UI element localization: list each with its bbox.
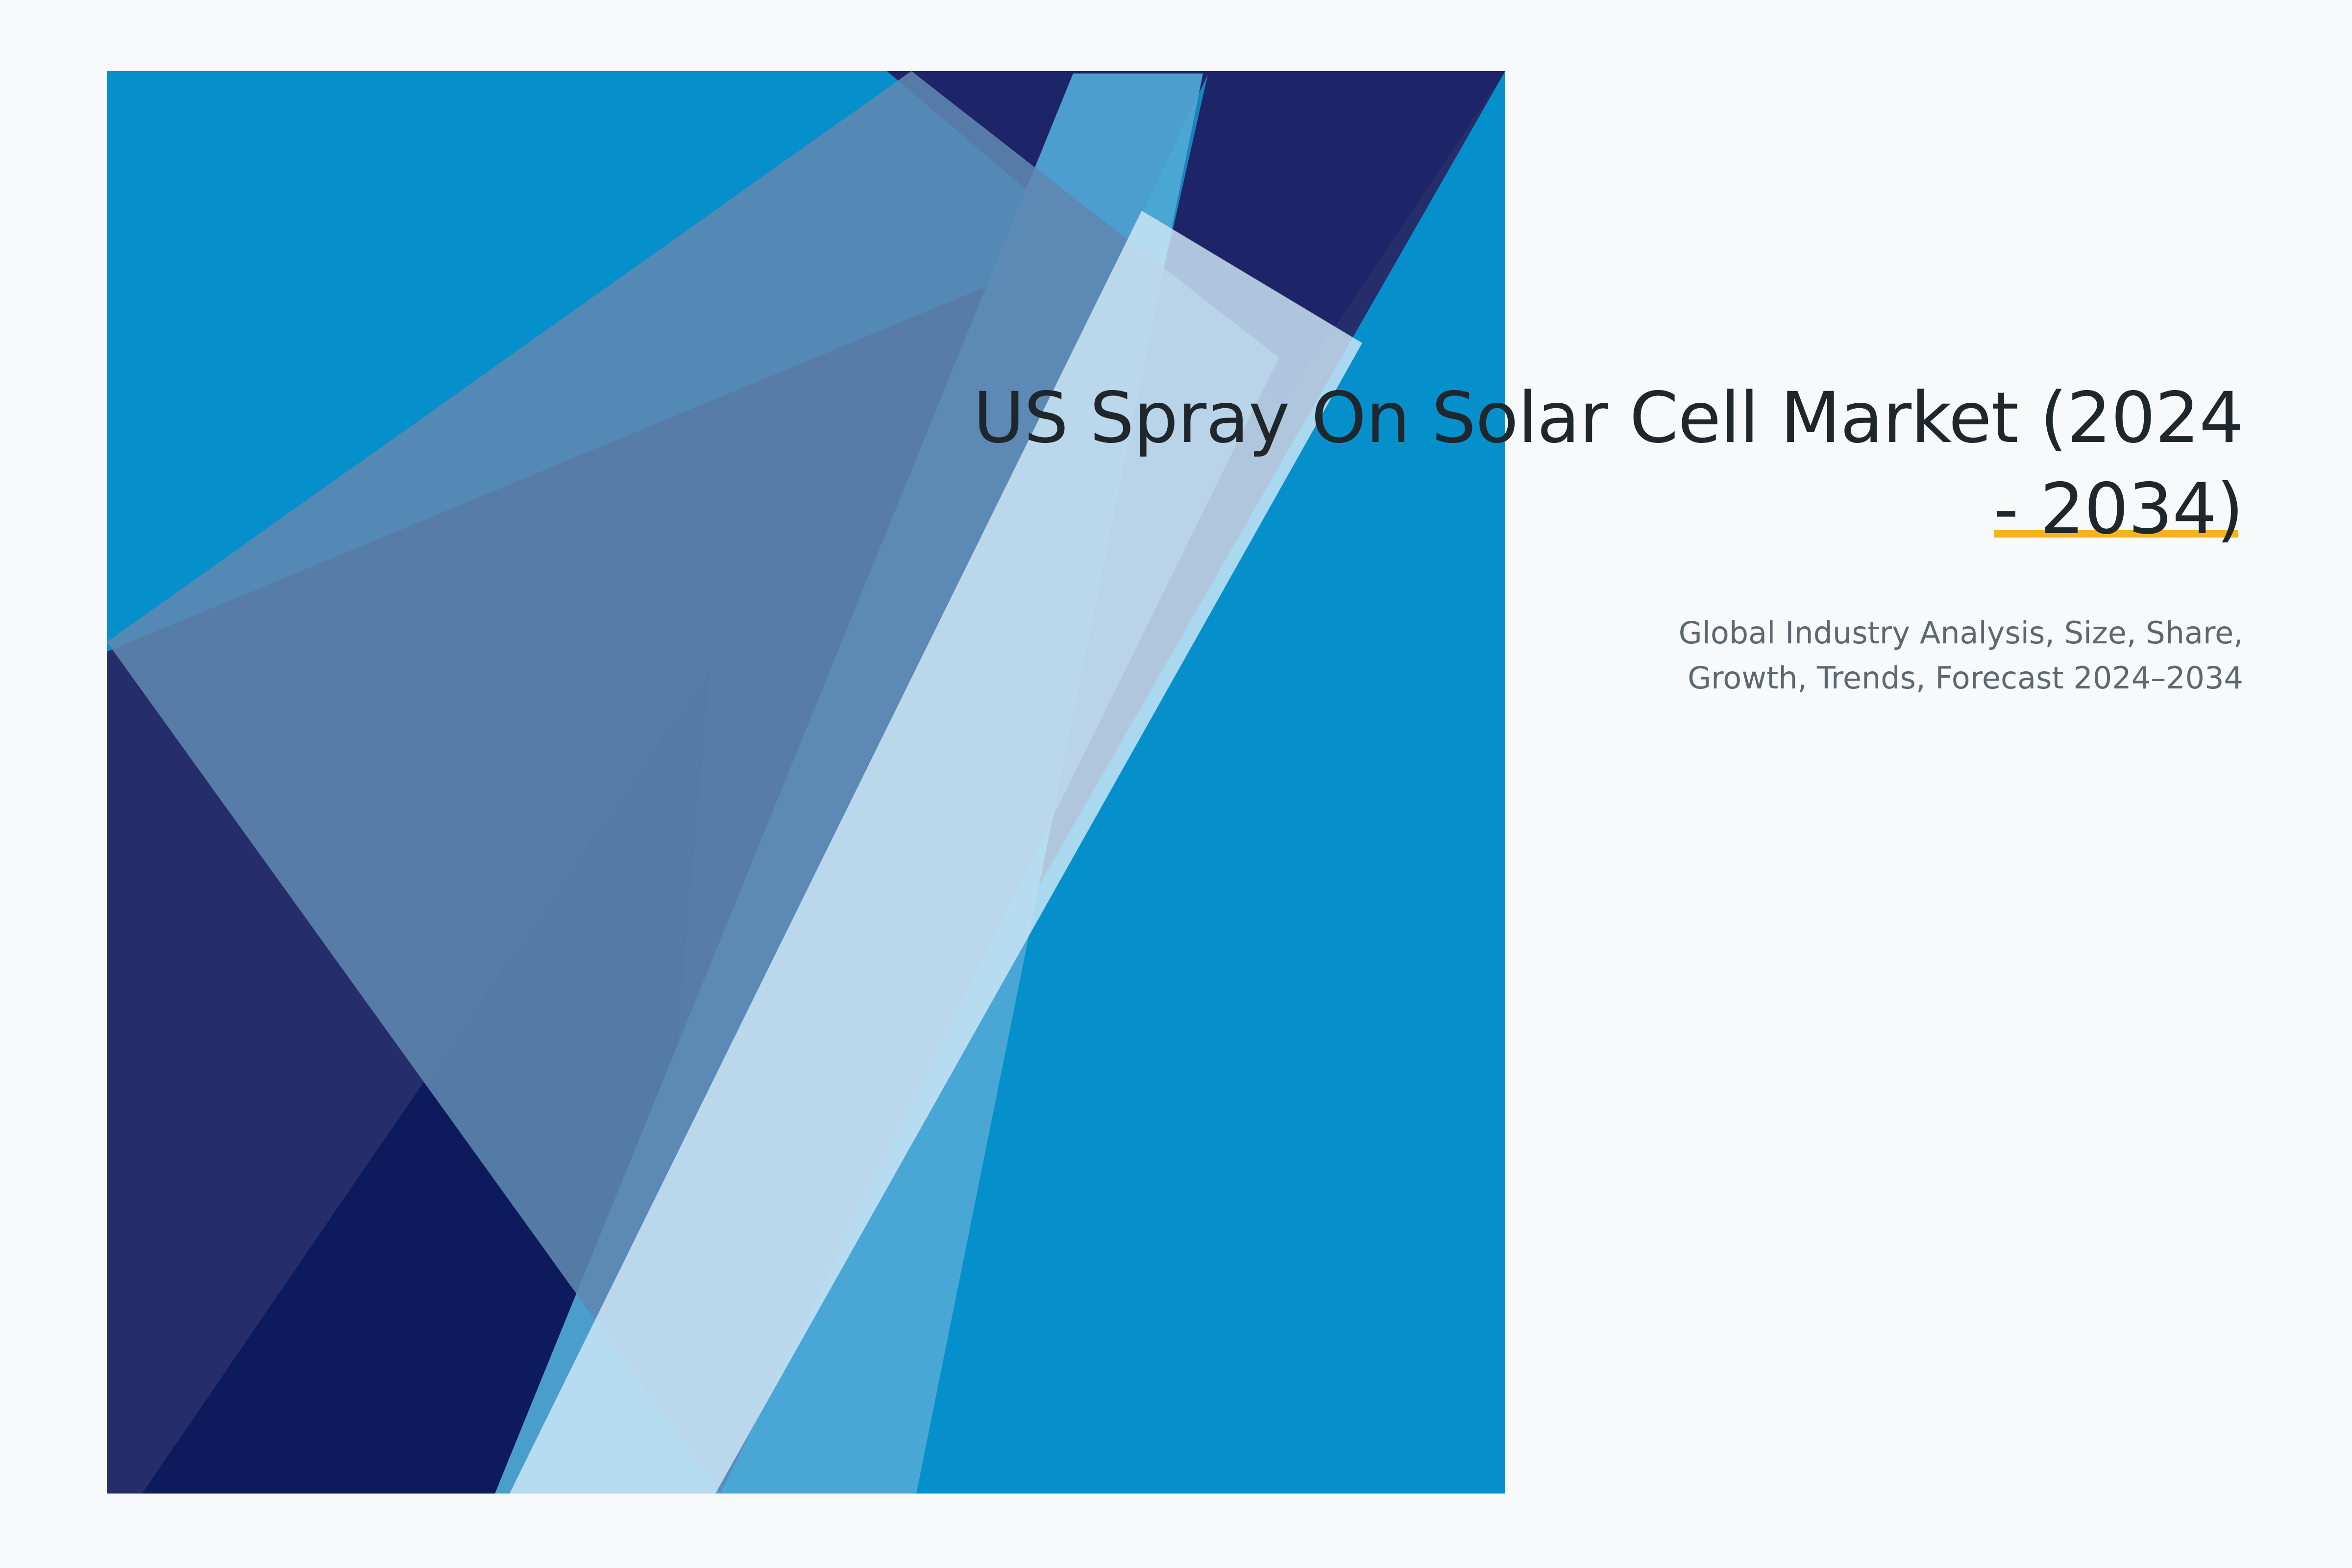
page-title-line-2: - 2034) [1993, 468, 2243, 550]
cover-artwork [0, 0, 2352, 1568]
shape-slate-overlay [107, 71, 1279, 1494]
shape-navy-triangle-topright [887, 71, 1505, 407]
page-subtitle-line-1: Global Industry Analysis, Size, Share, [1679, 615, 2243, 651]
page-subtitle-line-2: Growth, Trends, Forecast 2024–2034 [1688, 660, 2243, 696]
shape-mid-blue-band [495, 73, 1203, 1494]
page-subtitle: Global Industry Analysis, Size, Share, G… [891, 611, 2243, 701]
cover-text-block: US Spray On Solar Cell Market (2024 - 20… [891, 372, 2243, 700]
shape-deep-navy-arrow [142, 666, 710, 1494]
report-cover-page: US Spray On Solar Cell Market (2024 - 20… [0, 0, 2352, 1568]
page-title-line-1: US Spray On Solar Cell Market (2024 [973, 377, 2243, 459]
page-title: US Spray On Solar Cell Market (2024 - 20… [891, 372, 2243, 555]
shape-navy-wedge [107, 71, 1505, 1494]
shape-cyan-base [107, 71, 1505, 1494]
